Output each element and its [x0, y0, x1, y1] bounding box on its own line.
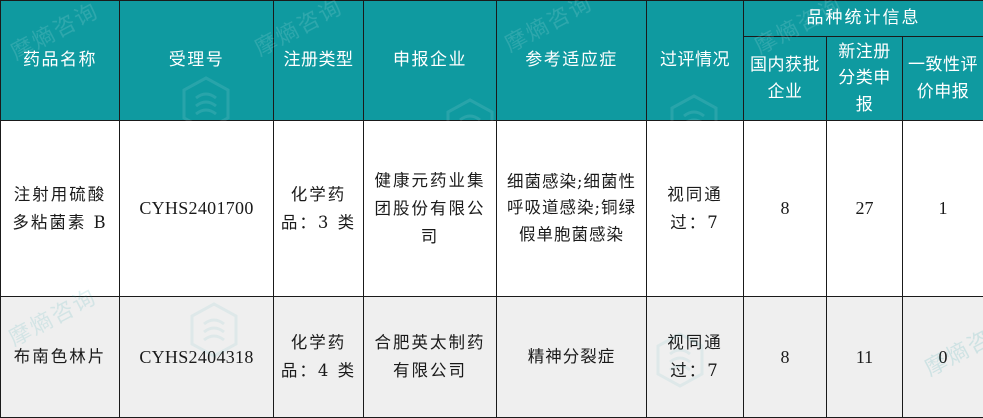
column-header-indication[interactable]: 参考适应症: [497, 1, 647, 121]
table-header: 药品名称 受理号 注册类型 申报企业 参考适应症 过评情况 品种统计信息 国内获…: [1, 1, 983, 121]
cell-new-reg-apply: 11: [827, 297, 903, 418]
cell-consistency-apply: 1: [903, 121, 983, 297]
cell-drug-name: 注射用硫酸多粘菌素 B: [1, 121, 120, 297]
cell-accept-no: CYHS2404318: [120, 297, 274, 418]
cell-domestic-approved: 8: [744, 121, 827, 297]
cell-reg-type: 化学药品：4 类: [274, 297, 364, 418]
drug-registration-table: 药品名称 受理号 注册类型 申报企业 参考适应症 过评情况 品种统计信息 国内获…: [0, 0, 983, 418]
table-row[interactable]: 注射用硫酸多粘菌素 B CYHS2401700 化学药品：3 类 健康元药业集团…: [1, 121, 983, 297]
column-header-domestic-approved[interactable]: 国内获批企业: [744, 37, 827, 121]
column-header-drug-name[interactable]: 药品名称: [1, 1, 120, 121]
cell-consistency-apply: 0: [903, 297, 983, 418]
cell-indication: 细菌感染;细菌性呼吸道感染;铜绿假单胞菌感染: [497, 121, 647, 297]
cell-reg-type: 化学药品：3 类: [274, 121, 364, 297]
column-header-applicant[interactable]: 申报企业: [364, 1, 497, 121]
cell-applicant: 合肥英太制药有限公司: [364, 297, 497, 418]
cell-accept-no: CYHS2401700: [120, 121, 274, 297]
cell-review: 视同通过：7: [647, 121, 744, 297]
cell-drug-name: 布南色林片: [1, 297, 120, 418]
column-header-new-reg-apply[interactable]: 新注册分类申报: [827, 37, 903, 121]
table-body: 注射用硫酸多粘菌素 B CYHS2401700 化学药品：3 类 健康元药业集团…: [1, 121, 983, 418]
header-row-top: 药品名称 受理号 注册类型 申报企业 参考适应症 过评情况 品种统计信息: [1, 1, 983, 37]
column-header-consistency-apply[interactable]: 一致性评价申报: [903, 37, 983, 121]
column-header-review[interactable]: 过评情况: [647, 1, 744, 121]
cell-applicant: 健康元药业集团股份有限公司: [364, 121, 497, 297]
cell-review: 视同通过：7: [647, 297, 744, 418]
column-header-accept-no[interactable]: 受理号: [120, 1, 274, 121]
cell-new-reg-apply: 27: [827, 121, 903, 297]
column-group-header-variety-statistics: 品种统计信息: [744, 1, 983, 37]
drug-registration-table-container: 药品名称 受理号 注册类型 申报企业 参考适应症 过评情况 品种统计信息 国内获…: [0, 0, 983, 418]
column-header-reg-type[interactable]: 注册类型: [274, 1, 364, 121]
table-row[interactable]: 布南色林片 CYHS2404318 化学药品：4 类 合肥英太制药有限公司 精神…: [1, 297, 983, 418]
cell-domestic-approved: 8: [744, 297, 827, 418]
cell-indication: 精神分裂症: [497, 297, 647, 418]
